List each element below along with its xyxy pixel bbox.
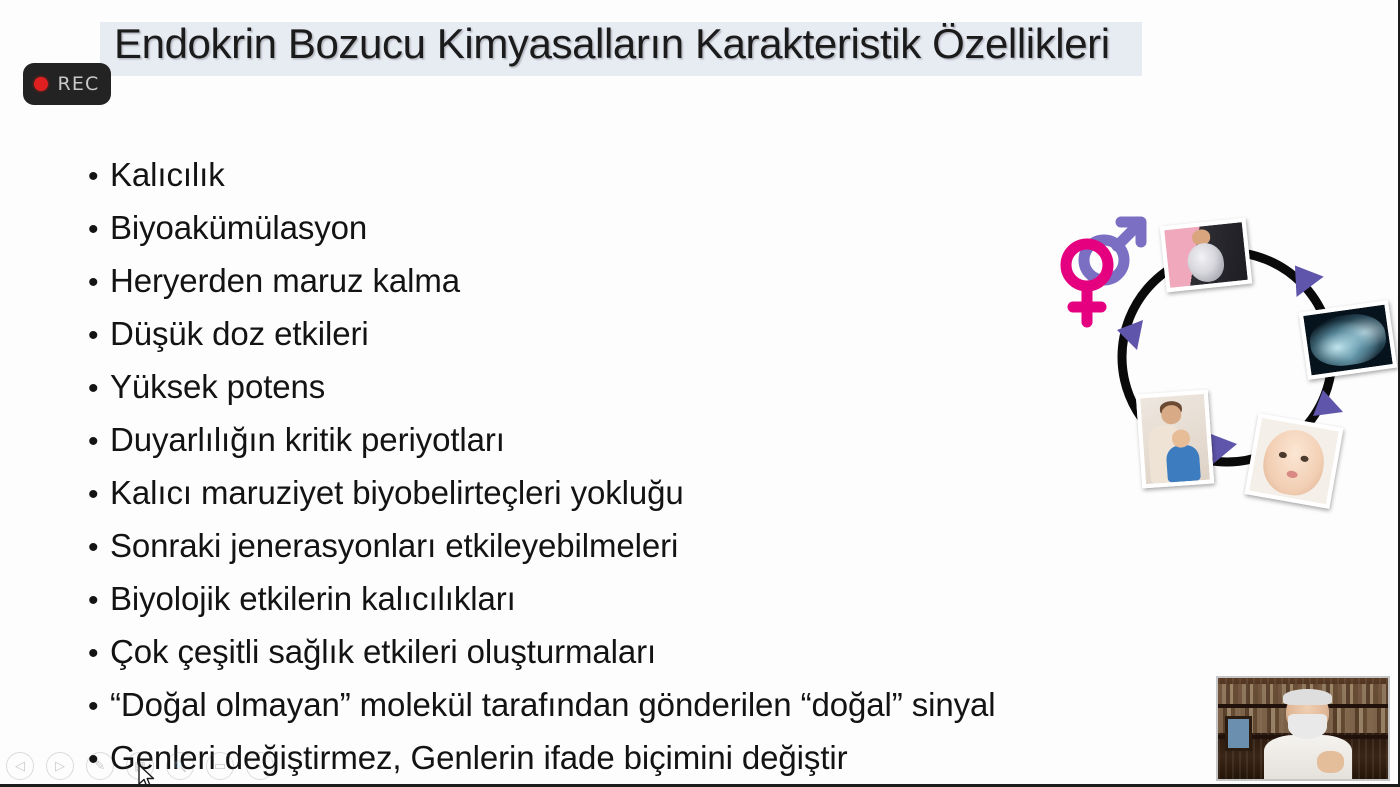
baby-image — [1249, 418, 1339, 504]
list-item: • Kalıcı maruziyet biyobelirteçleri yokl… — [88, 466, 1178, 519]
list-item-label: “Doğal olmayan” molekül tarafından gönde… — [110, 678, 995, 731]
pen-tool-button[interactable]: ✎ — [86, 752, 114, 780]
pen-icon: ✎ — [95, 758, 106, 774]
list-item-label: Kalıcılık — [110, 148, 225, 201]
list-item: • Heryerden maruz kalma — [88, 254, 1178, 307]
ellipsis-icon: ⋯ — [253, 758, 267, 775]
captions-icon: ▭ — [214, 758, 226, 774]
baby-face-photo — [1245, 413, 1344, 509]
presenter-webcam-overlay[interactable] — [1216, 676, 1390, 781]
list-item-label: Biyolojik etkilerin kalıcılıkları — [110, 572, 516, 625]
mouse-pointer — [138, 764, 156, 787]
list-item: • Çok çeşitli sağlık etkileri oluşturmal… — [88, 625, 1178, 678]
list-item-label: Duyarlılığın kritik periyotları — [110, 413, 505, 466]
presenter-hand — [1317, 751, 1344, 773]
presenter-hair — [1283, 689, 1332, 705]
photo-detail — [1259, 425, 1329, 499]
list-item-label: Yüksek potens — [110, 360, 325, 413]
magnifier-icon: 🔍 — [173, 760, 187, 773]
ultrasound-scan-photo — [1299, 300, 1398, 380]
presenter-beard — [1288, 714, 1327, 738]
recording-label: REC — [57, 73, 99, 95]
list-item: • Yüksek potens — [88, 360, 1178, 413]
bullet-glyph-icon: • — [88, 415, 110, 468]
bullet-glyph-icon: • — [88, 150, 110, 203]
bullet-glyph-icon: • — [88, 362, 110, 415]
record-dot-icon — [34, 77, 48, 91]
previous-slide-button[interactable]: ◁ — [6, 752, 34, 780]
next-slide-icon: ▷ — [55, 758, 65, 774]
more-options-button[interactable]: ⋯ — [246, 752, 274, 780]
previous-slide-icon: ◁ — [15, 758, 25, 774]
page-title: Endokrin Bozucu Kimyasalların Karakteris… — [114, 20, 1110, 68]
list-item: • Düşük doz etkileri — [88, 307, 1178, 360]
list-item: • Biyoakümülasyon — [88, 201, 1178, 254]
list-item-label: Biyoakümülasyon — [110, 201, 367, 254]
bullet-glyph-icon: • — [88, 468, 110, 521]
bullet-glyph-icon: • — [88, 203, 110, 256]
next-slide-button[interactable]: ▷ — [46, 752, 74, 780]
bullet-glyph-icon: • — [88, 256, 110, 309]
bullet-glyph-icon: • — [88, 521, 110, 574]
recording-indicator-badge: REC — [23, 63, 111, 105]
list-item-label: Heryerden maruz kalma — [110, 254, 460, 307]
list-item-label: Çok çeşitli sağlık etkileri oluşturmalar… — [110, 625, 656, 678]
list-item-label: Kalıcı maruziyet biyobelirteçleri yokluğ… — [110, 466, 684, 519]
bullet-glyph-icon: • — [88, 574, 110, 627]
wall-picture-frame — [1225, 716, 1252, 750]
list-item: • “Doğal olmayan” molekül tarafından gön… — [88, 678, 1178, 731]
list-item-label: Düşük doz etkileri — [110, 307, 369, 360]
bullet-glyph-icon: • — [88, 680, 110, 733]
list-item: • Biyolojik etkilerin kalıcılıkları — [88, 572, 1178, 625]
photo-detail — [1186, 242, 1226, 284]
captions-button[interactable]: ▭ — [206, 752, 234, 780]
ultrasound-image — [1303, 305, 1393, 376]
bullet-glyph-icon: • — [88, 309, 110, 362]
list-item: • Kalıcılık — [88, 148, 1178, 201]
list-item: • Duyarlılığın kritik periyotları — [88, 413, 1178, 466]
zoom-button[interactable]: 🔍 — [166, 752, 194, 780]
bullet-list: • Kalıcılık • Biyoakümülasyon • Heryerde… — [88, 148, 1178, 784]
list-item-label: Sonraki jenerasyonları etkileyebilmeleri — [110, 519, 678, 572]
bullet-glyph-icon: • — [88, 627, 110, 680]
presentation-slide: Endokrin Bozucu Kimyasalların Karakteris… — [0, 0, 1400, 787]
list-item: • Sonraki jenerasyonları etkileyebilmele… — [88, 519, 1178, 572]
photo-detail — [1307, 310, 1389, 370]
